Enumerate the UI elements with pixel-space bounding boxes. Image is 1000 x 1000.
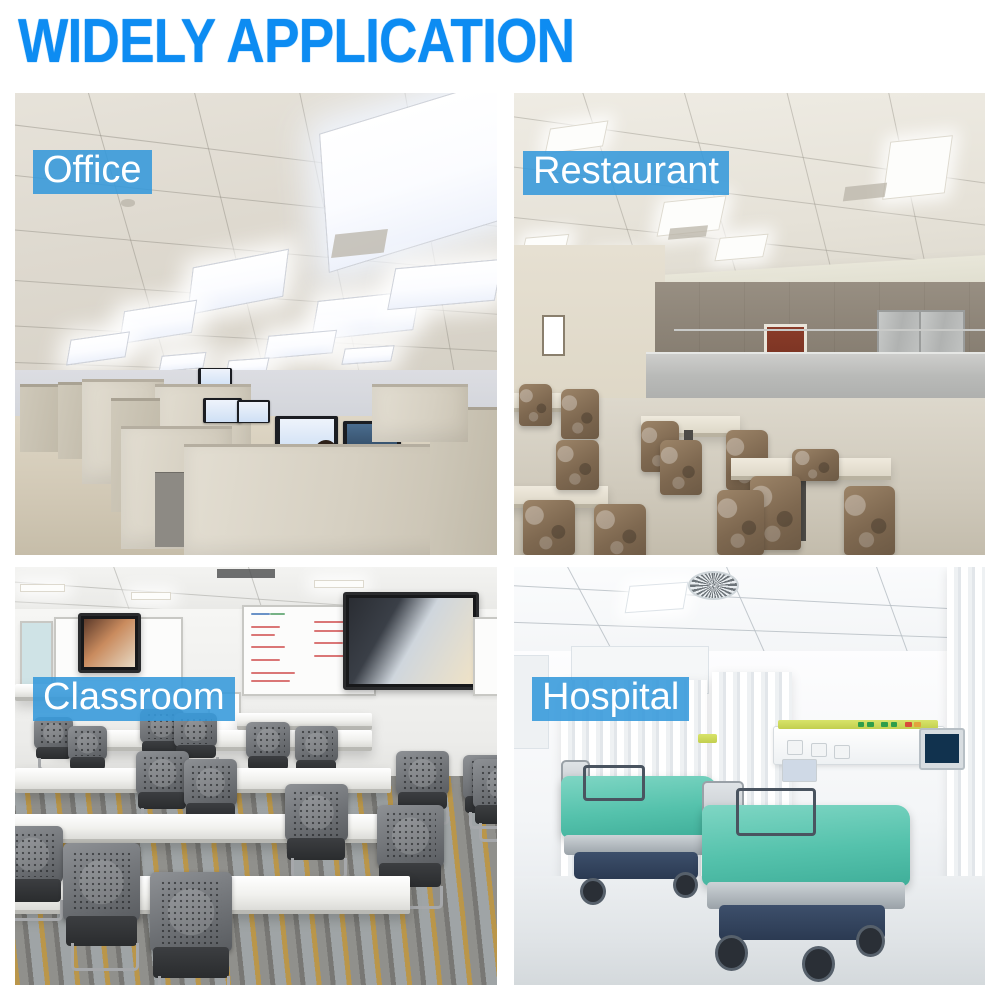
computer-monitor: [237, 400, 271, 423]
cubicle-partition: [184, 444, 449, 555]
dining-chair: [717, 490, 764, 555]
display-screen-content: [84, 619, 136, 667]
classroom-chair: [150, 872, 232, 985]
led-flat-panel-light: [882, 135, 953, 200]
led-flat-panel-light: [314, 580, 364, 589]
panel-label-classroom: Classroom: [33, 677, 235, 721]
wall-display: [343, 592, 479, 690]
whiteboard-writing: [251, 634, 275, 636]
hospital-photo: [514, 567, 985, 985]
application-panel-hospital[interactable]: Hospital: [514, 567, 985, 985]
led-flat-panel-light: [625, 581, 688, 613]
whiteboard-writing: [251, 680, 290, 682]
dining-chair: [556, 440, 598, 491]
wall-socket: [834, 745, 850, 760]
file-drawer: [155, 472, 184, 547]
dining-chair: [844, 486, 896, 555]
student-table: [15, 814, 410, 843]
dining-chair: [660, 440, 702, 495]
whiteboard-writing: [251, 672, 294, 674]
bed-caster-wheel: [802, 946, 835, 982]
wall-socket: [811, 743, 827, 758]
whiteboard-writing: [251, 659, 280, 661]
panel-label-office: Office: [33, 150, 152, 194]
bed-caster-wheel: [580, 878, 606, 905]
display-screen-content: [349, 598, 473, 684]
bed-side-rail: [736, 788, 817, 836]
classroom-chair: [34, 717, 73, 767]
restaurant-left-wall: [514, 245, 665, 407]
classroom-photo: [15, 567, 497, 985]
status-led: [858, 722, 865, 727]
bed-caster-wheel: [856, 925, 885, 957]
sneeze-guard-rail: [674, 329, 985, 331]
bed-caster-wheel: [715, 935, 748, 971]
dining-chair: [792, 449, 839, 481]
status-led: [905, 722, 912, 727]
ceiling-sprinkler: [121, 199, 135, 206]
patient-monitor: [919, 728, 965, 770]
classroom-chair: [473, 759, 497, 838]
dining-chair: [594, 504, 646, 555]
headwall-green-strip: [698, 734, 717, 742]
whiteboard-writing: [270, 613, 284, 615]
dining-chair: [523, 500, 575, 555]
cubicle-partition: [372, 384, 468, 442]
hospital-bed: [561, 776, 716, 910]
whiteboard-writing: [251, 613, 270, 615]
widely-application-banner: WIDELY APPLICATION: [0, 0, 1000, 1000]
led-flat-panel-light: [20, 584, 65, 593]
panel-label-hospital: Hospital: [532, 677, 689, 721]
bed-caster-wheel: [673, 872, 698, 898]
computer-monitor: [203, 398, 242, 423]
classroom-chair: [285, 784, 348, 876]
bed-side-rail: [583, 765, 645, 800]
dining-chair: [519, 384, 552, 426]
status-led: [914, 722, 921, 727]
application-panel-office[interactable]: Office: [15, 93, 497, 555]
classroom-chair: [136, 751, 189, 822]
led-flat-panel-light: [131, 592, 172, 600]
hospital-bed: [702, 805, 909, 981]
status-led: [881, 722, 888, 727]
dining-chair: [561, 389, 599, 440]
cubicle-partition: [20, 384, 63, 452]
classroom-chair: [15, 826, 63, 918]
ceiling-vent: [217, 569, 275, 578]
status-led: [867, 722, 874, 727]
wall-display: [78, 613, 142, 673]
application-panel-classroom[interactable]: Classroom: [15, 567, 497, 985]
whiteboard-writing: [314, 642, 343, 644]
whiteboard-writing: [251, 626, 280, 628]
application-grid: Office: [15, 93, 985, 985]
application-panel-restaurant[interactable]: Restaurant: [514, 93, 985, 555]
panel-label-restaurant: Restaurant: [523, 151, 729, 195]
status-led: [891, 722, 898, 727]
page-title: WIDELY APPLICATION: [18, 4, 844, 80]
framed-picture: [542, 315, 565, 356]
classroom-chair: [63, 843, 140, 968]
whiteboard: [473, 617, 497, 696]
wall-socket: [787, 740, 803, 755]
supply-pouch: [782, 759, 817, 782]
